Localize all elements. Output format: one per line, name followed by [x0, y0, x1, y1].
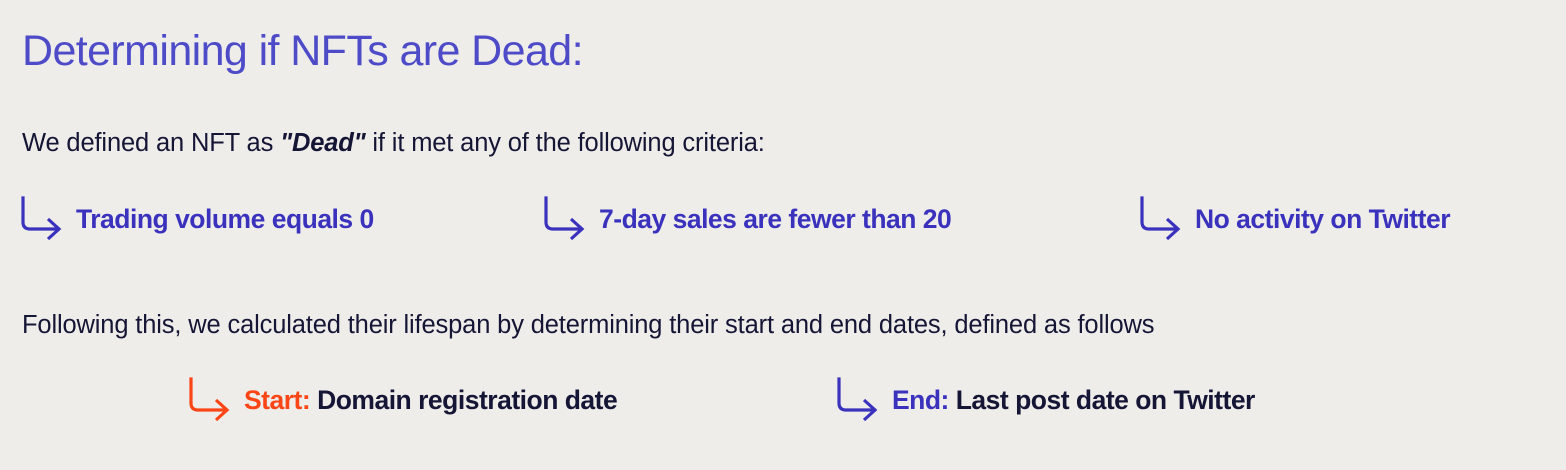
criteria-item-trading-volume: Trading volume equals 0	[20, 196, 374, 242]
intro-text-after: if it met any of the following criteria:	[365, 129, 764, 157]
date-definition-lead: Start:	[244, 385, 310, 415]
intro-paragraph: We defined an NFT as "Dead" if it met an…	[22, 126, 765, 160]
date-definition-value: Last post date on Twitter	[949, 385, 1255, 415]
intro-text-before: We defined an NFT as	[22, 129, 280, 157]
hook-arrow-icon	[188, 377, 232, 423]
date-definition-end: End: Last post date on Twitter	[836, 377, 1255, 423]
lifespan-paragraph: Following this, we calculated their life…	[22, 308, 1154, 342]
criteria-item-label: No activity on Twitter	[1195, 203, 1450, 235]
date-definition-start: Start: Domain registration date	[188, 377, 617, 423]
date-definition-value: Domain registration date	[310, 385, 617, 415]
hook-arrow-icon	[1139, 196, 1183, 242]
hook-arrow-icon	[20, 196, 64, 242]
hook-arrow-icon	[543, 196, 587, 242]
intro-emphasis-dead: "Dead"	[280, 129, 365, 157]
date-definition-label: Start: Domain registration date	[244, 384, 617, 416]
criteria-item-label: Trading volume equals 0	[76, 203, 374, 235]
hook-arrow-icon	[836, 377, 880, 423]
criteria-item-seven-day-sales: 7-day sales are fewer than 20	[543, 196, 951, 242]
date-definition-lead: End:	[892, 385, 949, 415]
date-definition-label: End: Last post date on Twitter	[892, 384, 1255, 416]
criteria-item-label: 7-day sales are fewer than 20	[599, 203, 951, 235]
infographic-canvas: Determining if NFTs are Dead: We defined…	[0, 0, 1566, 470]
page-title: Determining if NFTs are Dead:	[22, 22, 583, 80]
criteria-item-no-twitter-activity: No activity on Twitter	[1139, 196, 1450, 242]
